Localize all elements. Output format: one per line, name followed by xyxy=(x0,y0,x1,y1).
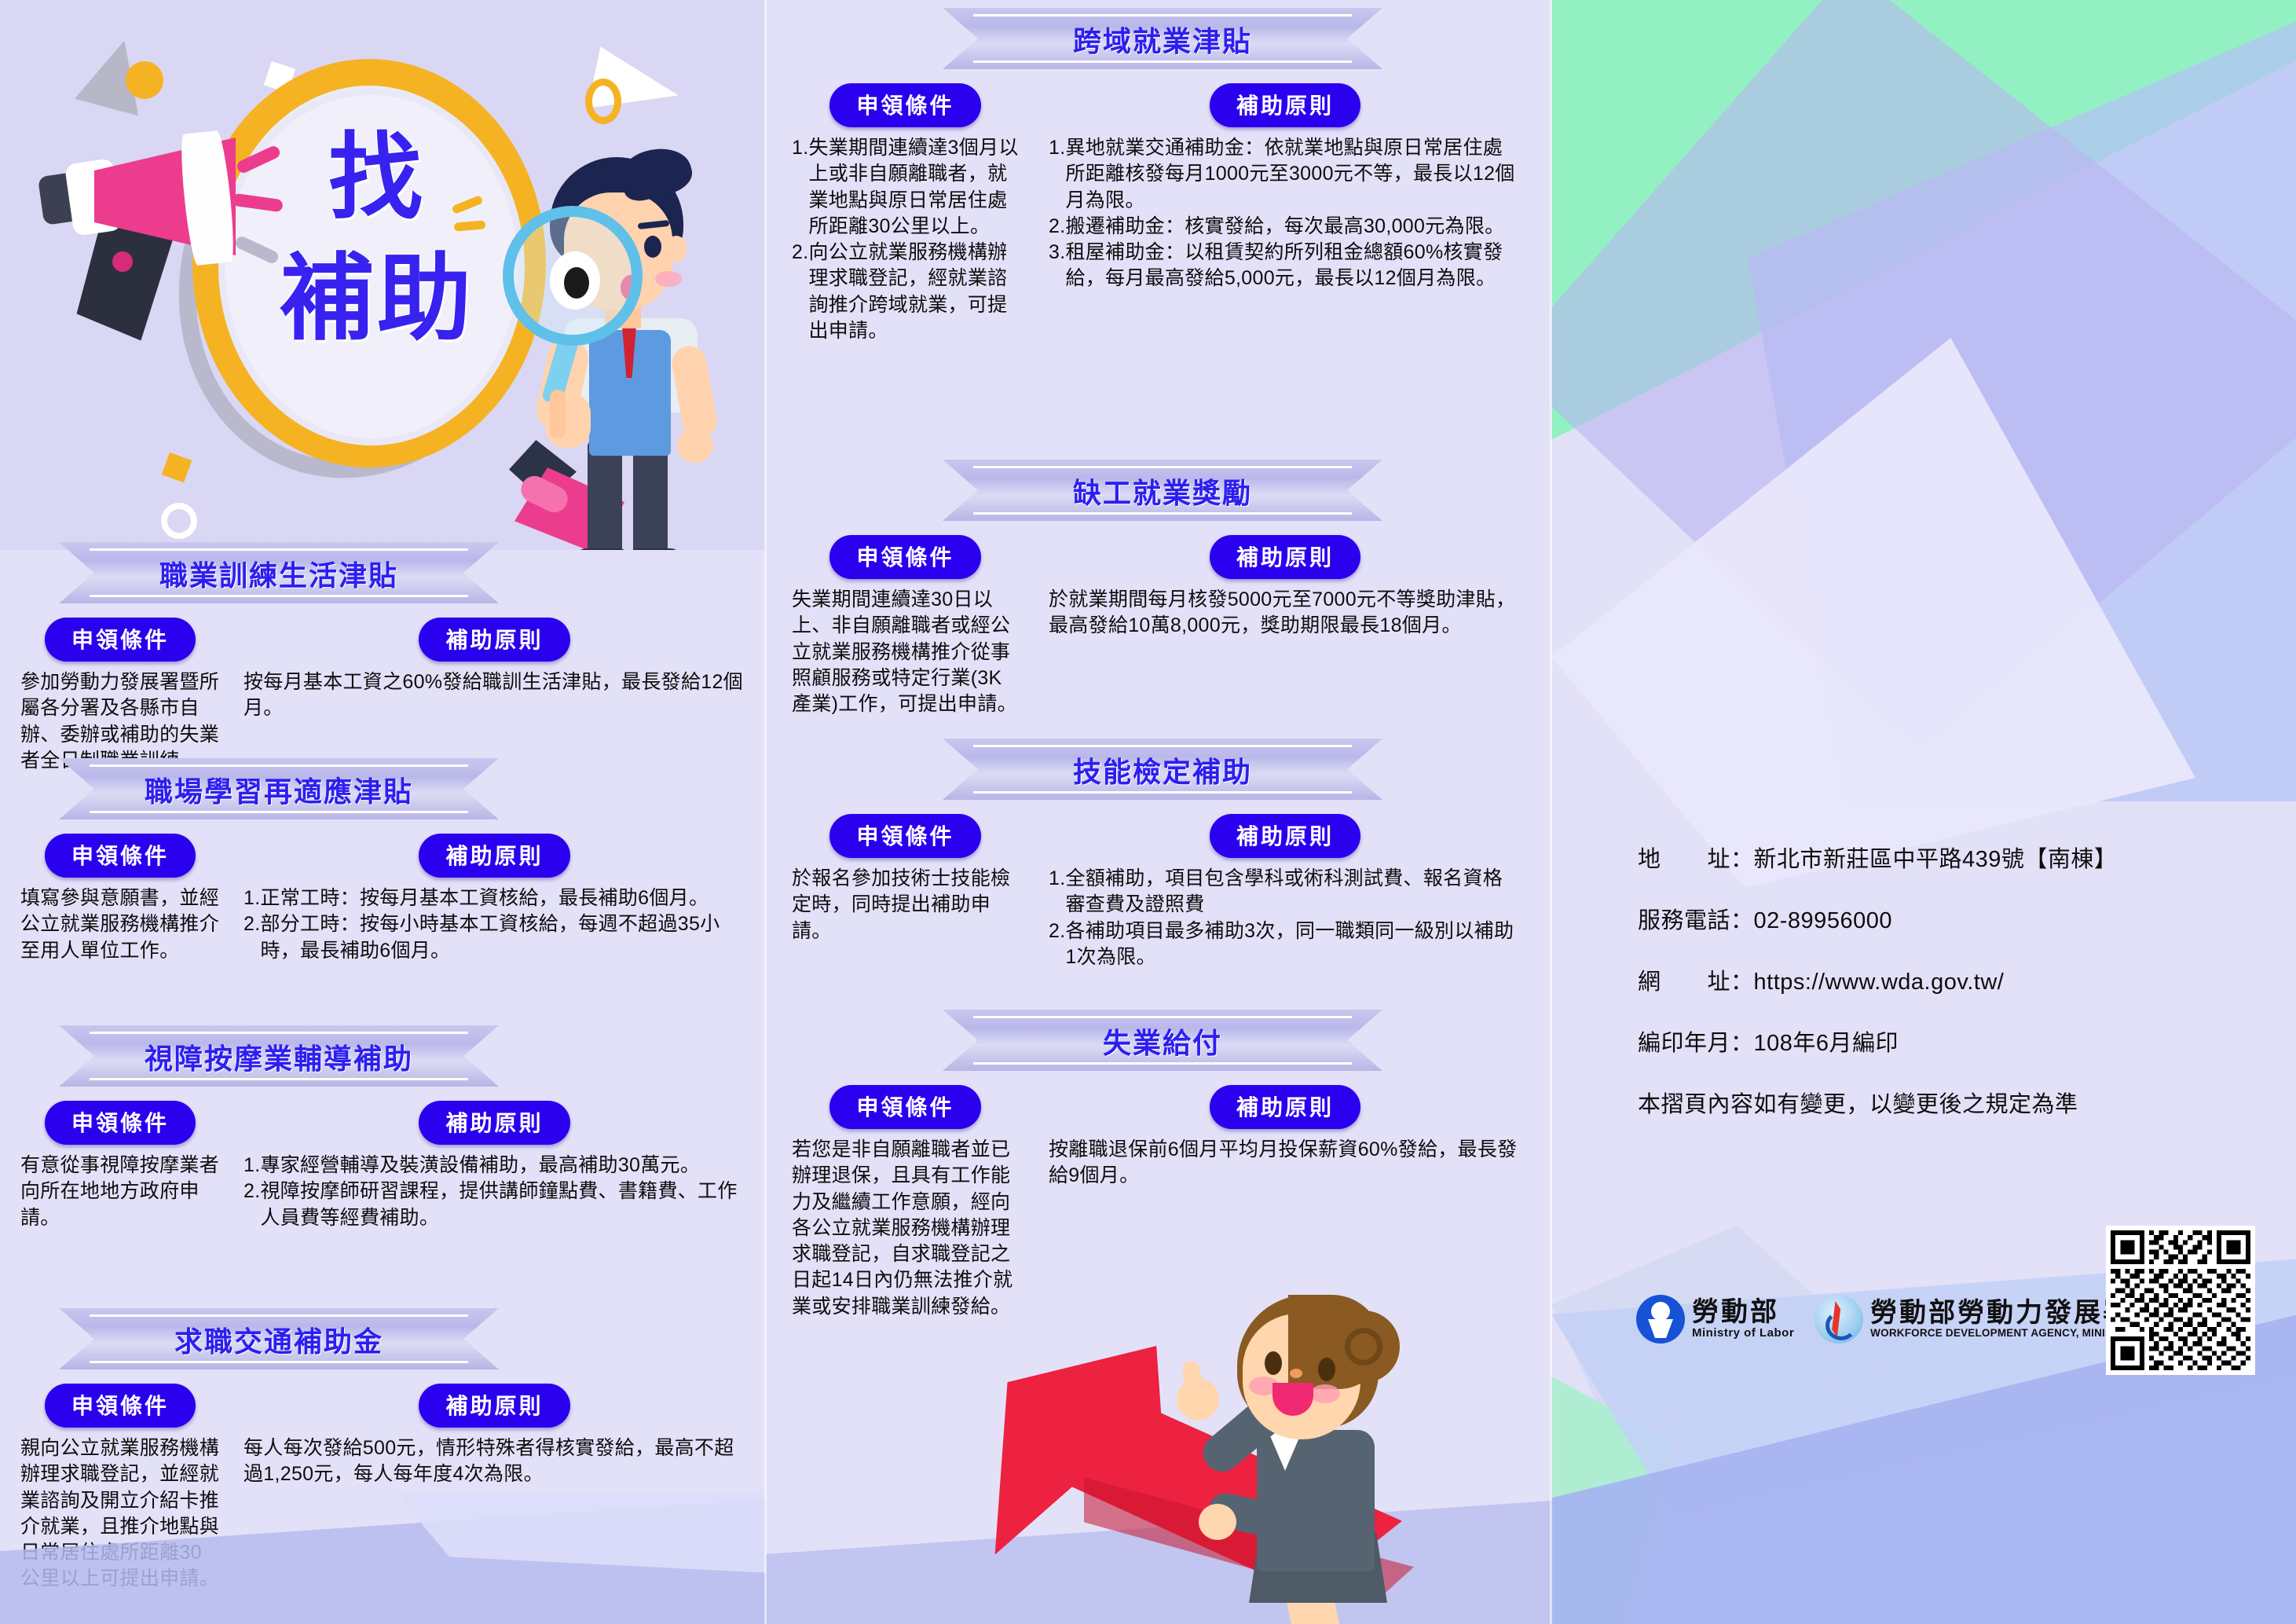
decor-square-orange xyxy=(162,453,192,482)
section-ribbon: 技能檢定補助 xyxy=(943,739,1382,801)
woman-eye-left xyxy=(1265,1351,1282,1375)
decor-ring-white xyxy=(161,503,197,539)
section-title: 失業給付 xyxy=(943,1021,1382,1061)
woman-hair-bun-swirl xyxy=(1345,1328,1382,1366)
woman-eye-right xyxy=(1318,1358,1335,1381)
contact-disclaimer: 本摺頁內容如有變更，以變更後之規定為準 xyxy=(1638,1086,2266,1119)
section-ribbon: 求職交通補助金 xyxy=(59,1308,499,1371)
print-date-label: 編印年月： xyxy=(1638,1025,1754,1058)
item-text: 正常工時：按每月基本工資核給，最長補助6個月。 xyxy=(260,885,745,911)
item-number: 2. xyxy=(244,1179,260,1231)
phone-label: 服務電話： xyxy=(1638,902,1754,935)
hero-title-line1: 找 xyxy=(236,118,518,239)
item-text: 失業期間連續達3個月以上或非自願離職者，就業地點與原日常居住處所距離30公里以上… xyxy=(808,135,1019,240)
ministry-of-labor-logo: 勞動部 Ministry of Labor xyxy=(1636,1295,1794,1344)
principles-column: 補助原則 1. 異地就業交通補助金：依就業地點與原日常居住處所距離核發每月100… xyxy=(1025,83,1528,344)
principles-pill: 補助原則 xyxy=(419,618,569,662)
section-ribbon: 職業訓練生活津貼 xyxy=(59,542,499,605)
section-title: 職場學習再適應津貼 xyxy=(59,769,499,810)
boy-thumb xyxy=(550,390,566,438)
fold-line-left xyxy=(764,0,767,1624)
item-text: 專家經營輔導及裝潢設備補助，最高補助30萬元。 xyxy=(260,1153,745,1179)
principles-pill: 補助原則 xyxy=(1210,83,1360,127)
item-text: 異地就業交通補助金：依就業地點與原日常居住處所距離核發每月1000元至3000元… xyxy=(1065,135,1522,214)
section-columns: 申領條件 填寫參與意願書，並經公立就業服務機構推介至用人單位工作。 補助原則 1… xyxy=(0,834,766,964)
section-workplace-adaptation-allowance: 職場學習再適應津貼 申領條件 填寫參與意願書，並經公立就業服務機構推介至用人單位… xyxy=(0,758,766,964)
fold-line-right xyxy=(1550,0,1552,1624)
boy-leg-left xyxy=(588,440,622,550)
boy-ear xyxy=(666,236,687,262)
conditions-pill: 申領條件 xyxy=(829,814,980,858)
principles-column: 補助原則 1. 正常工時：按每月基本工資核給，最長補助6個月。 2. 部分工時：… xyxy=(226,834,752,964)
item-text: 全額補助，項目包含學科或術科測試費、報名資格審查費及證照費 xyxy=(1065,866,1522,918)
item-number: 1. xyxy=(244,1153,260,1179)
principles-column: 補助原則 1. 全額補助，項目包含學科或術科測試費、報名資格審查費及證照費 2.… xyxy=(1025,814,1528,970)
arrow-woman-illustration xyxy=(990,1273,1540,1619)
woman-nose xyxy=(1290,1369,1302,1378)
item-number: 2. xyxy=(1049,918,1065,971)
contact-address-row: 地 址：新北市新莊區中平路439號【南棟】 xyxy=(1638,841,2266,874)
decor-dot-orange xyxy=(126,61,163,99)
section-columns: 申領條件 參加勞動力發展署暨所屬各分署及各縣市自辦、委辦或補助的失業者全日制職業… xyxy=(0,618,766,774)
section-title: 跨域就業津貼 xyxy=(943,19,1382,60)
print-date-value: 108年6月編印 xyxy=(1754,1031,1899,1056)
item-number: 1. xyxy=(244,885,260,911)
address-value: 新北市新莊區中平路439號【南棟】 xyxy=(1754,847,2118,872)
brochure-page: 找 補助 職業訓練生活津貼 申領條件 參加勞動力發展署暨所屬各分署及各縣市自辦、… xyxy=(0,0,2296,1624)
wda-mark-icon xyxy=(1814,1295,1863,1344)
item-text: 租屋補助金：以租賃契約所列租金總額60%核實發給，每月最高發給5,000元，最長… xyxy=(1065,240,1522,292)
item-text: 搬遷補助金：核實發給，每次最高30,000元為限。 xyxy=(1065,214,1522,240)
boy-blush xyxy=(655,271,682,287)
conditions-pill: 申領條件 xyxy=(829,83,980,127)
section-columns: 申領條件 1. 失業期間連續達3個月以上或非自願離職者，就業地點與原日常居住處所… xyxy=(766,83,1551,344)
woman-jacket xyxy=(1257,1430,1375,1571)
section-ribbon: 職場學習再適應津貼 xyxy=(59,758,499,821)
left-panel: 找 補助 職業訓練生活津貼 申領條件 參加勞動力發展署暨所屬各分署及各縣市自辦、… xyxy=(0,0,766,1624)
section-title: 職業訓練生活津貼 xyxy=(59,553,499,594)
boy-leg-right xyxy=(633,440,668,550)
section-title: 技能檢定補助 xyxy=(943,750,1382,790)
principles-pill: 補助原則 xyxy=(1210,814,1360,858)
item-number: 1. xyxy=(1049,135,1065,214)
principles-column: 補助原則 於就業期間每月核發5000元至7000元不等獎助津貼，最高發給10萬8… xyxy=(1025,535,1528,717)
section-cross-region-employment-allowance: 跨域就業津貼 申領條件 1. 失業期間連續達3個月以上或非自願離職者，就業地點與… xyxy=(766,8,1551,344)
address-label: 地 址： xyxy=(1638,841,1754,874)
section-ribbon: 視障按摩業輔導補助 xyxy=(59,1025,499,1088)
item-number: 2. xyxy=(244,911,260,964)
boy-eye xyxy=(644,236,661,258)
conditions-column: 申領條件 填寫參與意願書，並經公立就業服務機構推介至用人單位工作。 xyxy=(14,834,226,964)
woman-hand-lower xyxy=(1199,1504,1236,1540)
conditions-column: 申領條件 1. 失業期間連續達3個月以上或非自願離職者，就業地點與原日常居住處所… xyxy=(785,83,1025,344)
conditions-column: 申領條件 失業期間連續達30日以上、非自願離職者或經公立就業服務機構推介從事照顧… xyxy=(785,535,1025,717)
condition-text: 若您是非自願離職者並已辦理退保，且具有工作能力及繼續工作意願，經向各公立就業服務… xyxy=(792,1137,1019,1320)
website-value[interactable]: https://www.wda.gov.tw/ xyxy=(1754,970,2005,995)
section-labor-shortage-employment-incentive: 缺工就業獎勵 申領條件 失業期間連續達30日以上、非自願離職者或經公立就業服務機… xyxy=(766,460,1551,717)
megaphone-button xyxy=(112,251,133,272)
boy-fist xyxy=(677,428,713,463)
principles-pill: 補助原則 xyxy=(419,834,569,878)
magnified-eye-pupil xyxy=(564,267,589,299)
condition-text: 填寫參與意願書，並經公立就業服務機構推介至用人單位工作。 xyxy=(20,885,220,964)
principle-item: 2. 部分工時：按每小時基本工資核給，每週不超過35小時，最長補助6個月。 xyxy=(244,911,745,964)
principle-item: 1. 異地就業交通補助金：依就業地點與原日常居住處所距離核發每月1000元至30… xyxy=(1049,135,1522,214)
middle-panel: 跨域就業津貼 申領條件 1. 失業期間連續達3個月以上或非自願離職者，就業地點與… xyxy=(766,0,1551,1624)
right-panel: 地 址：新北市新莊區中平路439號【南棟】 服務電話：02-89956000 網… xyxy=(1551,0,2296,1624)
section-title: 缺工就業獎勵 xyxy=(943,471,1382,511)
conditions-column: 申領條件 參加勞動力發展署暨所屬各分署及各縣市自辦、委辦或補助的失業者全日制職業… xyxy=(14,618,226,774)
conditions-column: 申領條件 有意從事視障按摩業者向所在地地方政府申請。 xyxy=(14,1101,226,1231)
contact-website-row: 網 址：https://www.wda.gov.tw/ xyxy=(1638,963,2266,996)
contact-phone-row: 服務電話：02-89956000 xyxy=(1638,902,2266,935)
conditions-column: 申領條件 於報名參加技術士技能檢定時，同時提出補助申請。 xyxy=(785,814,1025,970)
principle-item: 2. 搬遷補助金：核實發給，每次最高30,000元為限。 xyxy=(1049,214,1522,240)
principle-item: 1. 正常工時：按每月基本工資核給，最長補助6個月。 xyxy=(244,885,745,911)
principle-item: 3. 租屋補助金：以租賃契約所列租金總額60%核實發給，每月最高發給5,000元… xyxy=(1049,240,1522,292)
boy-hair-tuft xyxy=(616,141,696,204)
principle-text: 每人每次發給500元，情形特殊者得核實發給，最高不超過1,250元，每人每年度4… xyxy=(244,1435,745,1488)
principle-text: 於就業期間每月核發5000元至7000元不等獎助津貼，最高發給10萬8,000元… xyxy=(1049,587,1522,640)
principles-column: 補助原則 按每月基本工資之60%發給職訓生活津貼，最長發給12個月。 xyxy=(226,618,752,774)
principle-item: 2. 視障按摩師研習課程，提供講師鐘點費、書籍費、工作人員費等經費補助。 xyxy=(244,1179,745,1231)
boy-arm-right xyxy=(669,343,720,441)
section-columns: 申領條件 有意從事視障按摩業者向所在地地方政府申請。 補助原則 1. 專家經營輔… xyxy=(0,1101,766,1231)
conditions-pill: 申領條件 xyxy=(45,1384,196,1428)
section-title: 求職交通補助金 xyxy=(59,1319,499,1360)
item-text: 各補助項目最多補助3次，同一職類同一級別以補助1次為限。 xyxy=(1065,918,1522,971)
item-number: 1. xyxy=(1049,866,1065,918)
ministry-of-labor-name-en: Ministry of Labor xyxy=(1692,1326,1794,1340)
section-visually-impaired-massage-subsidy: 視障按摩業輔導補助 申領條件 有意從事視障按摩業者向所在地地方政府申請。 補助原… xyxy=(0,1025,766,1231)
qr-code-icon xyxy=(2111,1230,2250,1370)
conditions-pill: 申領條件 xyxy=(829,535,980,579)
item-number: 1. xyxy=(792,135,808,240)
item-text: 視障按摩師研習課程，提供講師鐘點費、書籍費、工作人員費等經費補助。 xyxy=(260,1179,745,1231)
hero-title: 找 補助 xyxy=(236,118,518,359)
contact-block: 地 址：新北市新莊區中平路439號【南棟】 服務電話：02-89956000 網… xyxy=(1638,841,2266,1119)
principle-text: 按每月基本工資之60%發給職訓生活津貼，最長發給12個月。 xyxy=(244,669,745,722)
decor-ring-yellow xyxy=(585,79,621,124)
principles-column: 補助原則 1. 專家經營輔導及裝潢設備補助，最高補助30萬元。 2. 視障按摩師… xyxy=(226,1101,752,1231)
principle-text: 按離職退保前6個月平均月投保薪資60%發給，最長發給9個月。 xyxy=(1049,1137,1522,1190)
section-skill-certification-subsidy: 技能檢定補助 申領條件 於報名參加技術士技能檢定時，同時提出補助申請。 補助原則… xyxy=(766,739,1551,970)
hero-illustration: 找 補助 xyxy=(0,0,766,550)
principle-item: 2. 各補助項目最多補助3次，同一職類同一級別以補助1次為限。 xyxy=(1049,918,1522,971)
principles-pill: 補助原則 xyxy=(419,1384,569,1428)
ministry-of-labor-name-cn: 勞動部 xyxy=(1692,1299,1794,1327)
principles-pill: 補助原則 xyxy=(1210,535,1360,579)
item-number: 3. xyxy=(1049,240,1065,292)
item-number: 2. xyxy=(1049,214,1065,240)
section-ribbon: 失業給付 xyxy=(943,1010,1382,1072)
section-ribbon: 跨域就業津貼 xyxy=(943,8,1382,71)
conditions-pill: 申領條件 xyxy=(45,618,196,662)
section-ribbon: 缺工就業獎勵 xyxy=(943,460,1382,522)
conditions-pill: 申領條件 xyxy=(829,1085,980,1129)
woman-blush-right xyxy=(1310,1384,1340,1403)
contact-print-date-row: 編印年月：108年6月編印 xyxy=(1638,1025,2266,1058)
item-text: 部分工時：按每小時基本工資核給，每週不超過35小時，最長補助6個月。 xyxy=(260,911,745,964)
qr-code[interactable] xyxy=(2106,1226,2255,1375)
conditions-pill: 申領條件 xyxy=(45,834,196,878)
principles-pill: 補助原則 xyxy=(1210,1085,1360,1129)
section-title: 視障按摩業輔導補助 xyxy=(59,1036,499,1077)
conditions-pill: 申領條件 xyxy=(45,1101,196,1145)
principle-item: 1. 專家經營輔導及裝潢設備補助，最高補助30萬元。 xyxy=(244,1153,745,1179)
phone-value[interactable]: 02-89956000 xyxy=(1754,908,1892,933)
condition-text: 失業期間連續達30日以上、非自願離職者或經公立就業服務機構推介從事照顧服務或特定… xyxy=(792,587,1019,717)
section-vocational-training-allowance: 職業訓練生活津貼 申領條件 參加勞動力發展署暨所屬各分署及各縣市自辦、委辦或補助… xyxy=(0,542,766,774)
section-columns: 申領條件 於報名參加技術士技能檢定時，同時提出補助申請。 補助原則 1. 全額補… xyxy=(766,814,1551,970)
principles-pill: 補助原則 xyxy=(419,1101,569,1145)
condition-item: 2. 向公立就業服務機構辦理求職登記，經就業諮詢推介跨域就業，可提出申請。 xyxy=(792,240,1019,344)
principle-item: 1. 全額補助，項目包含學科或術科測試費、報名資格審查費及證照費 xyxy=(1049,866,1522,918)
hero-title-line2: 補助 xyxy=(236,239,518,360)
item-number: 2. xyxy=(792,240,808,344)
condition-item: 1. 失業期間連續達3個月以上或非自願離職者，就業地點與原日常居住處所距離30公… xyxy=(792,135,1019,240)
website-label: 網 址： xyxy=(1638,963,1754,996)
ministry-of-labor-mark-icon xyxy=(1636,1295,1685,1344)
condition-text: 有意從事視障按摩業者向所在地地方政府申請。 xyxy=(20,1153,220,1231)
condition-text: 於報名參加技術士技能檢定時，同時提出補助申請。 xyxy=(792,866,1019,944)
item-text: 向公立就業服務機構辦理求職登記，經就業諮詢推介跨域就業，可提出申請。 xyxy=(808,240,1019,344)
section-columns: 申領條件 失業期間連續達30日以上、非自願離職者或經公立就業服務機構推介從事照顧… xyxy=(766,535,1551,717)
